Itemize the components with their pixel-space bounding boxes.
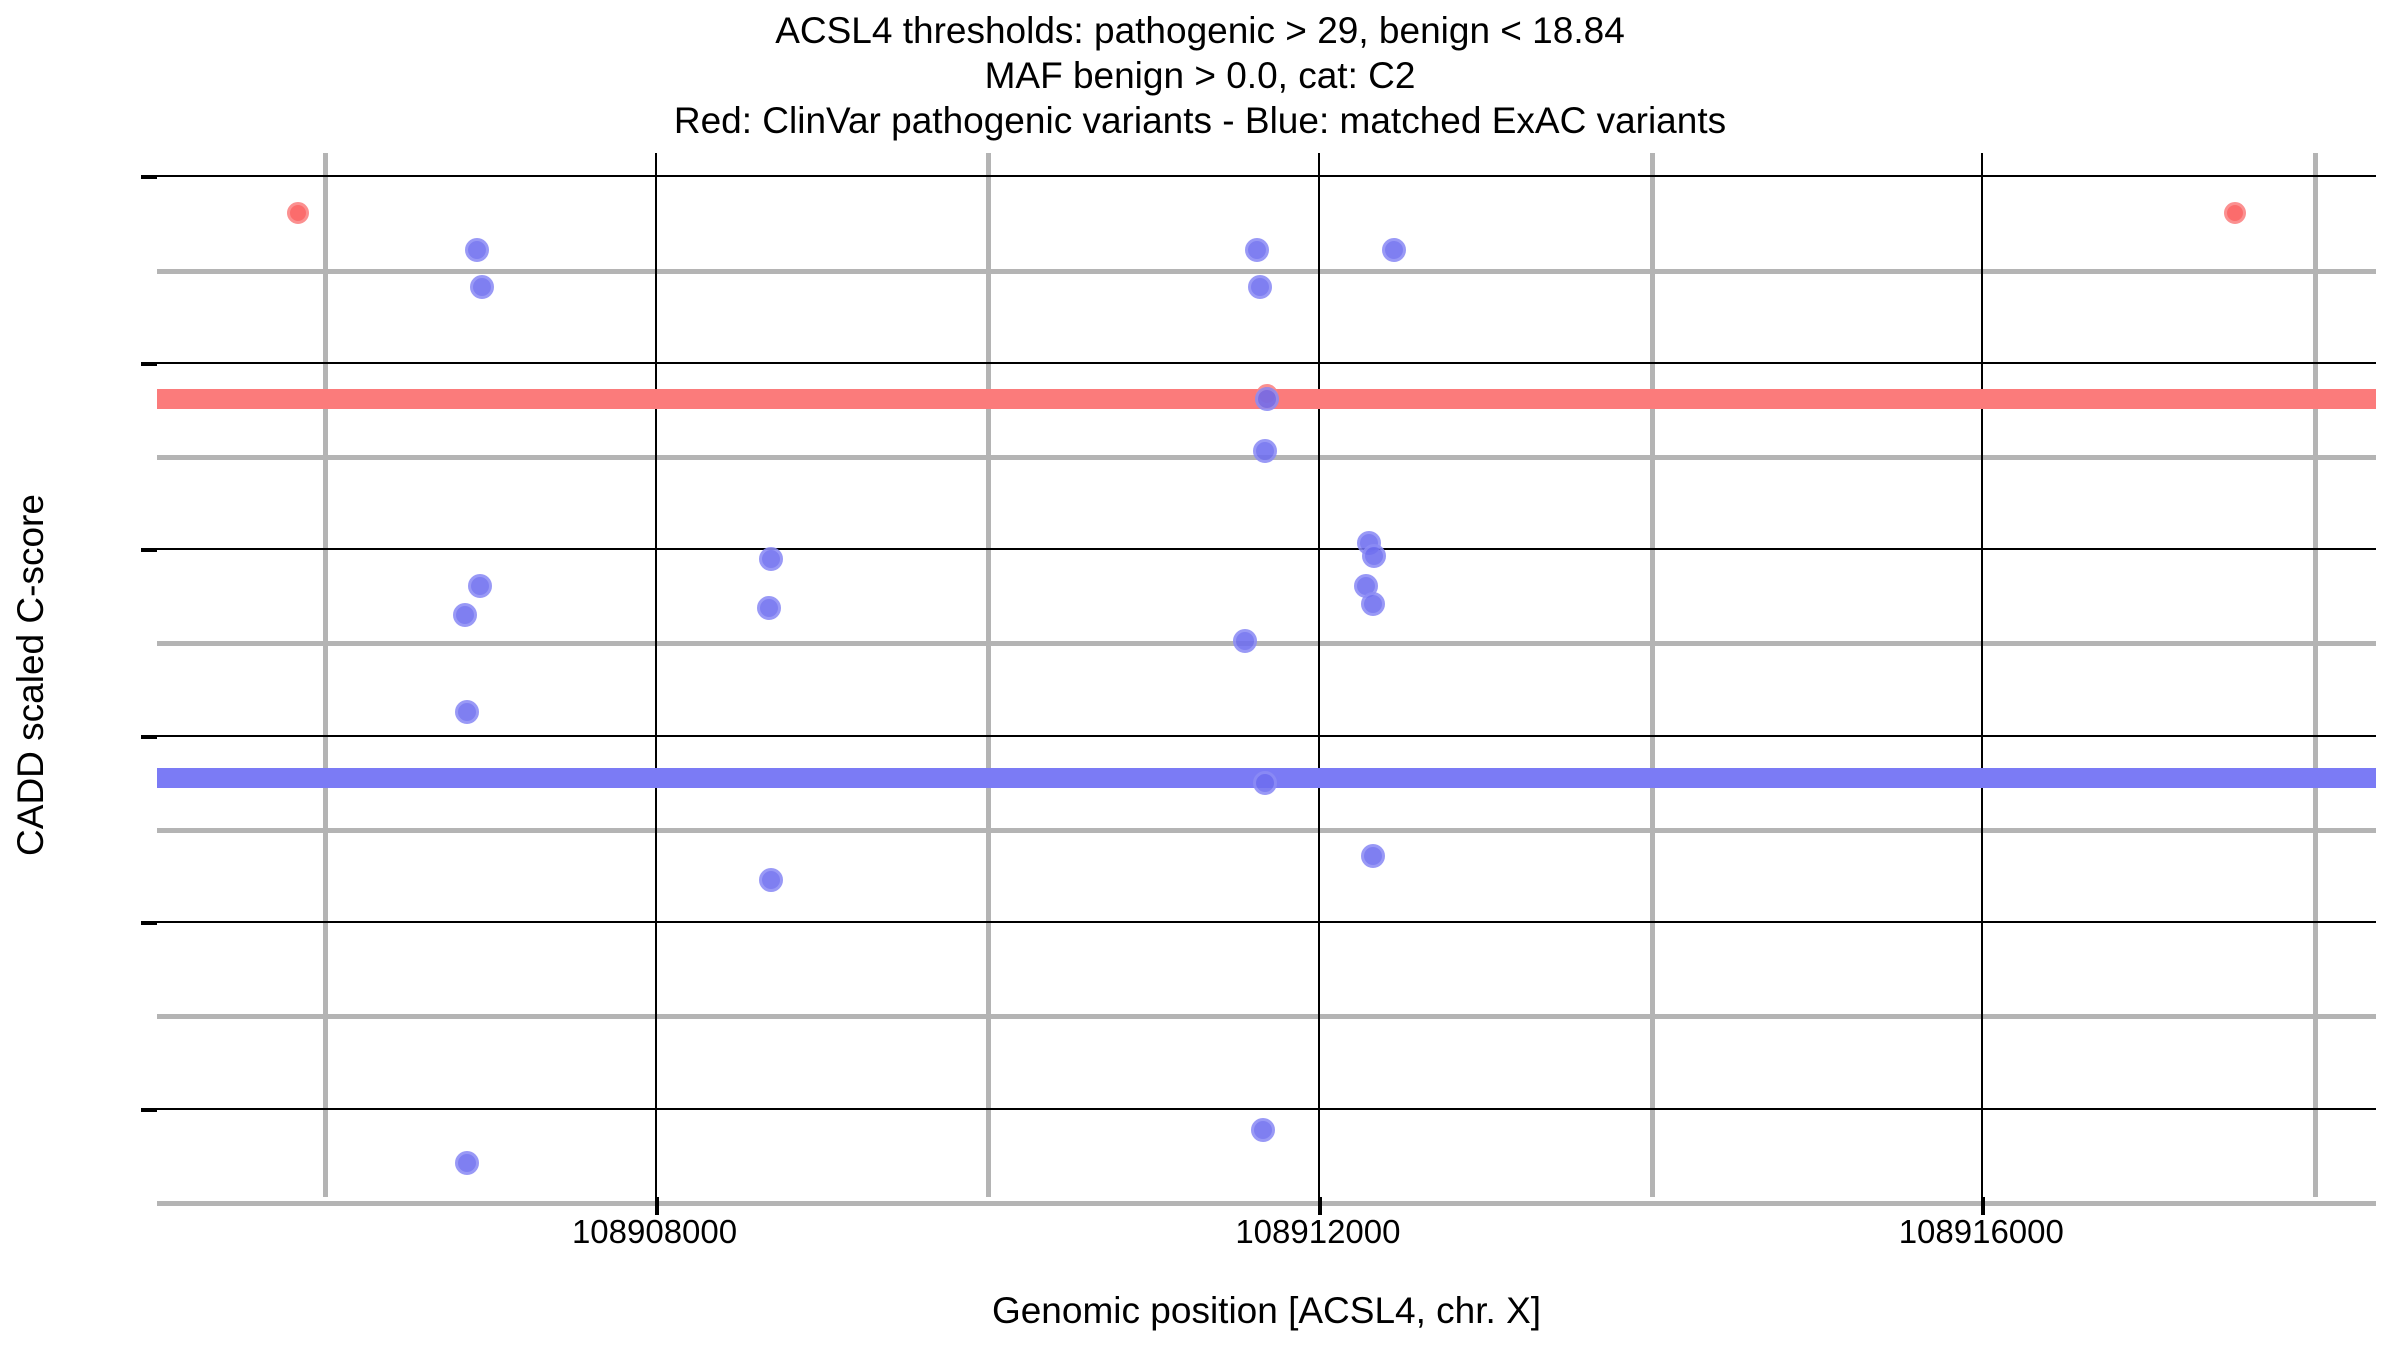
gridline-vertical-minor — [1650, 153, 1655, 1197]
data-point-benign[interactable] — [468, 574, 492, 598]
data-point-benign[interactable] — [470, 275, 494, 299]
chart-title-line-2: MAF benign > 0.0, cat: C2 — [0, 53, 2400, 98]
data-point-benign[interactable] — [1233, 629, 1257, 653]
gridline-horizontal-major — [157, 362, 2376, 364]
y-tick-mark — [141, 548, 157, 552]
data-point-benign[interactable] — [453, 603, 477, 627]
data-point-benign[interactable] — [1361, 592, 1385, 616]
y-tick-mark — [141, 362, 157, 366]
data-point-benign[interactable] — [1245, 238, 1269, 262]
gridline-horizontal-minor — [157, 641, 2376, 646]
data-point-benign[interactable] — [1361, 844, 1385, 868]
gridline-horizontal-major — [157, 1108, 2376, 1110]
chart-title-line-1: ACSL4 thresholds: pathogenic > 29, benig… — [0, 8, 2400, 53]
data-point-benign[interactable] — [759, 868, 783, 892]
y-tick-mark — [141, 735, 157, 739]
y-axis-label: CADD scaled C-score — [10, 153, 56, 1197]
x-tick-label: 108912000 — [1235, 1215, 1400, 1248]
gridline-vertical-major — [1318, 153, 1320, 1197]
y-tick-mark — [141, 175, 157, 179]
x-tick-mark — [1981, 1197, 1985, 1215]
gridline-horizontal-major — [157, 548, 2376, 550]
y-tick-mark — [141, 921, 157, 925]
data-point-benign[interactable] — [1255, 387, 1279, 411]
data-point-benign[interactable] — [1251, 1118, 1275, 1142]
gridline-vertical-major — [655, 153, 657, 1197]
gridline-horizontal-major — [157, 735, 2376, 737]
x-axis-label: Genomic position [ACSL4, chr. X] — [157, 1290, 2376, 1332]
x-tick-label: 108916000 — [1899, 1215, 2064, 1248]
chart-title-line-3: Red: ClinVar pathogenic variants - Blue:… — [0, 98, 2400, 143]
gridline-vertical-major — [1981, 153, 1983, 1197]
data-point-benign[interactable] — [1253, 771, 1277, 795]
chart-title: ACSL4 thresholds: pathogenic > 29, benig… — [0, 8, 2400, 143]
data-point-benign[interactable] — [1253, 439, 1277, 463]
data-point-benign[interactable] — [1248, 275, 1272, 299]
gridline-horizontal-minor — [157, 269, 2376, 274]
gridline-horizontal-major — [157, 921, 2376, 923]
gridline-vertical-minor — [986, 153, 991, 1197]
gridline-vertical-minor — [2313, 153, 2318, 1197]
data-point-benign[interactable] — [757, 596, 781, 620]
x-tick-mark — [1318, 1197, 1322, 1215]
data-point-benign[interactable] — [759, 547, 783, 571]
data-point-benign[interactable] — [1382, 238, 1406, 262]
gridline-vertical-minor — [323, 153, 328, 1197]
data-point-pathogenic[interactable] — [2224, 202, 2246, 224]
gridline-horizontal-major — [157, 175, 2376, 177]
scatter-plot-figure: ACSL4 thresholds: pathogenic > 29, benig… — [0, 0, 2400, 1350]
data-point-benign[interactable] — [1362, 544, 1386, 568]
gridline-horizontal-minor — [157, 828, 2376, 833]
x-tick-mark — [655, 1197, 659, 1215]
data-point-benign[interactable] — [455, 700, 479, 724]
data-point-pathogenic[interactable] — [287, 202, 309, 224]
y-tick-mark — [141, 1108, 157, 1112]
data-point-benign[interactable] — [465, 238, 489, 262]
plot-area: 101520253035108908000108912000108916000 — [157, 153, 2376, 1197]
gridline-horizontal-minor — [157, 1014, 2376, 1019]
data-point-benign[interactable] — [455, 1151, 479, 1175]
x-tick-label: 108908000 — [572, 1215, 737, 1248]
gridline-horizontal-minor — [157, 1201, 2376, 1206]
